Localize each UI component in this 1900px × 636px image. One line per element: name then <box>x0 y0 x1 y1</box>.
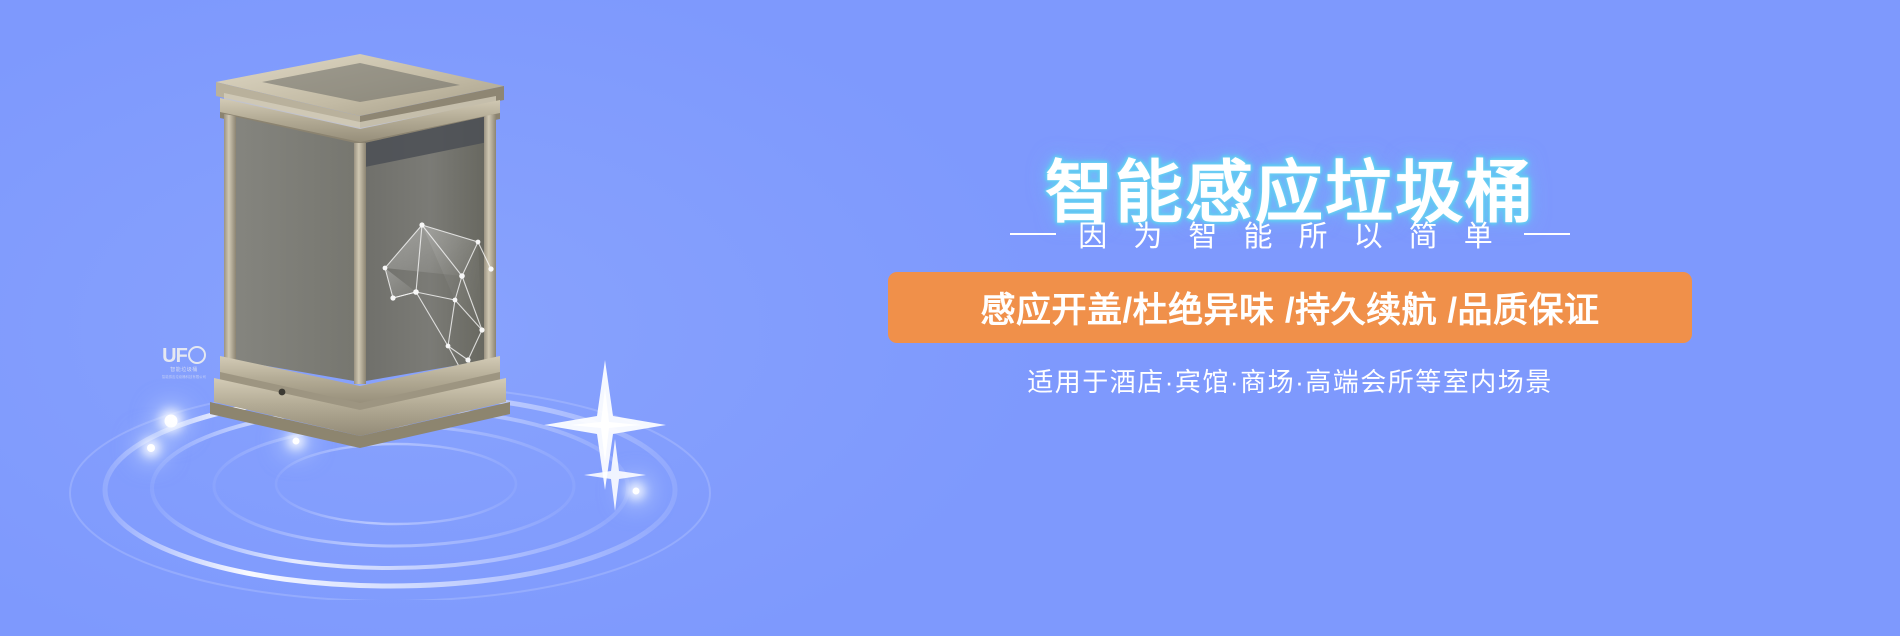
subheadline-text: 因 为 智 能 所 以 简 单 <box>1078 213 1501 255</box>
feature-band-text: 感应开盖/杜绝异味 /持久续航 /品质保证 <box>980 282 1599 333</box>
brand-ring-icon <box>188 346 206 364</box>
sensor-dot <box>279 389 286 396</box>
copy-block: 智能感应垃圾桶 因 为 智 能 所 以 简 单 感应开盖/杜绝异味 /持久续航 … <box>880 0 1840 636</box>
promo-banner: UF 智能垃圾桶 智能感应垃圾桶科技有限公司 智能感应垃圾桶 因 为 智 能 所… <box>0 0 1900 636</box>
rule-left <box>1010 233 1056 235</box>
product-brand-logo: UF 智能垃圾桶 智能感应垃圾桶科技有限公司 <box>148 346 220 379</box>
brand-company-line: 智能感应垃圾桶科技有限公司 <box>148 376 220 379</box>
brand-mark: UF <box>148 346 220 366</box>
brand-mark-text: UF <box>162 345 187 367</box>
brand-name-cn: 智能垃圾桶 <box>148 368 220 373</box>
rule-right <box>1524 233 1570 235</box>
scene-line: 适用于酒店·宾馆·商场·高端会所等室内场景 <box>880 362 1700 399</box>
product-stage: UF 智能垃圾桶 智能感应垃圾桶科技有限公司 <box>60 30 780 590</box>
subheadline: 因 为 智 能 所 以 简 单 <box>880 213 1700 255</box>
feature-band: 感应开盖/杜绝异味 /持久续航 /品质保证 <box>888 272 1692 343</box>
smart-trash-bin <box>210 30 510 450</box>
